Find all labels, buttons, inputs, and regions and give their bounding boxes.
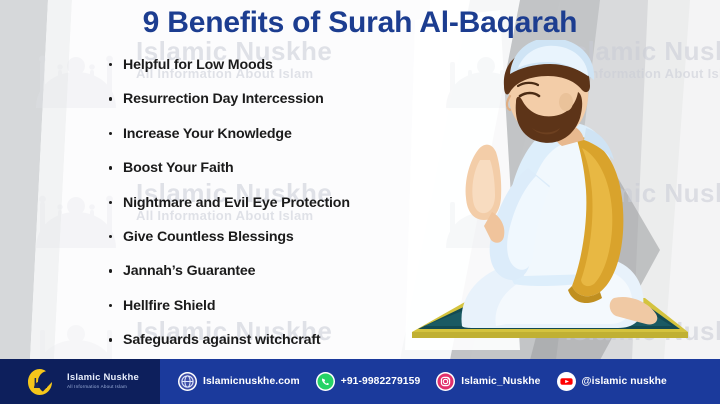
list-item: Hellfire Shield	[108, 298, 448, 314]
list-item: Safeguards against witchcraft	[108, 332, 448, 348]
contact-list: Islamicnuskhe.com +91-9982279159	[160, 359, 720, 404]
footer-bar: Islamic Nuskhe All Information About Isl…	[0, 359, 720, 404]
brand-logo[interactable]: Islamic Nuskhe All Information About Isl…	[0, 359, 160, 404]
contact-youtube[interactable]: @islamic nuskhe	[557, 372, 667, 391]
brand-name: Islamic Nuskhe	[67, 373, 139, 383]
youtube-icon	[557, 372, 576, 391]
contact-instagram[interactable]: Islamic_Nuskhe	[436, 372, 540, 391]
whatsapp-label: +91-9982279159	[341, 376, 421, 387]
benefits-list: Helpful for Low Moods Resurrection Day I…	[108, 57, 448, 367]
globe-website-icon	[178, 372, 197, 391]
list-item: Increase Your Knowledge	[108, 126, 448, 142]
crescent-moon-mosque-icon	[28, 367, 62, 397]
instagram-icon	[436, 372, 455, 391]
contact-whatsapp[interactable]: +91-9982279159	[316, 372, 421, 391]
brand-tagline: All Information About Islam	[67, 384, 139, 390]
page-title: 9 Benefits of Surah Al-Baqarah	[0, 6, 720, 40]
list-item: Nightmare and Evil Eye Protection	[108, 195, 448, 211]
list-item: Give Countless Blessings	[108, 229, 448, 245]
poster-canvas: Islamic Nuskhe All Information About Isl…	[0, 0, 720, 404]
list-item: Resurrection Day Intercession	[108, 91, 448, 107]
contact-website[interactable]: Islamicnuskhe.com	[178, 372, 300, 391]
list-item: Helpful for Low Moods	[108, 57, 448, 73]
man-praying-dua-illustration	[400, 40, 690, 350]
youtube-label: @islamic nuskhe	[582, 376, 667, 387]
brand-logo-text: Islamic Nuskhe All Information About Isl…	[67, 373, 139, 390]
ear	[559, 93, 573, 111]
list-item: Jannah’s Guarantee	[108, 263, 448, 279]
nose	[507, 96, 510, 110]
list-item: Boost Your Faith	[108, 160, 448, 176]
website-label: Islamicnuskhe.com	[203, 376, 300, 387]
whatsapp-icon	[316, 372, 335, 391]
instagram-label: Islamic_Nuskhe	[461, 376, 540, 387]
